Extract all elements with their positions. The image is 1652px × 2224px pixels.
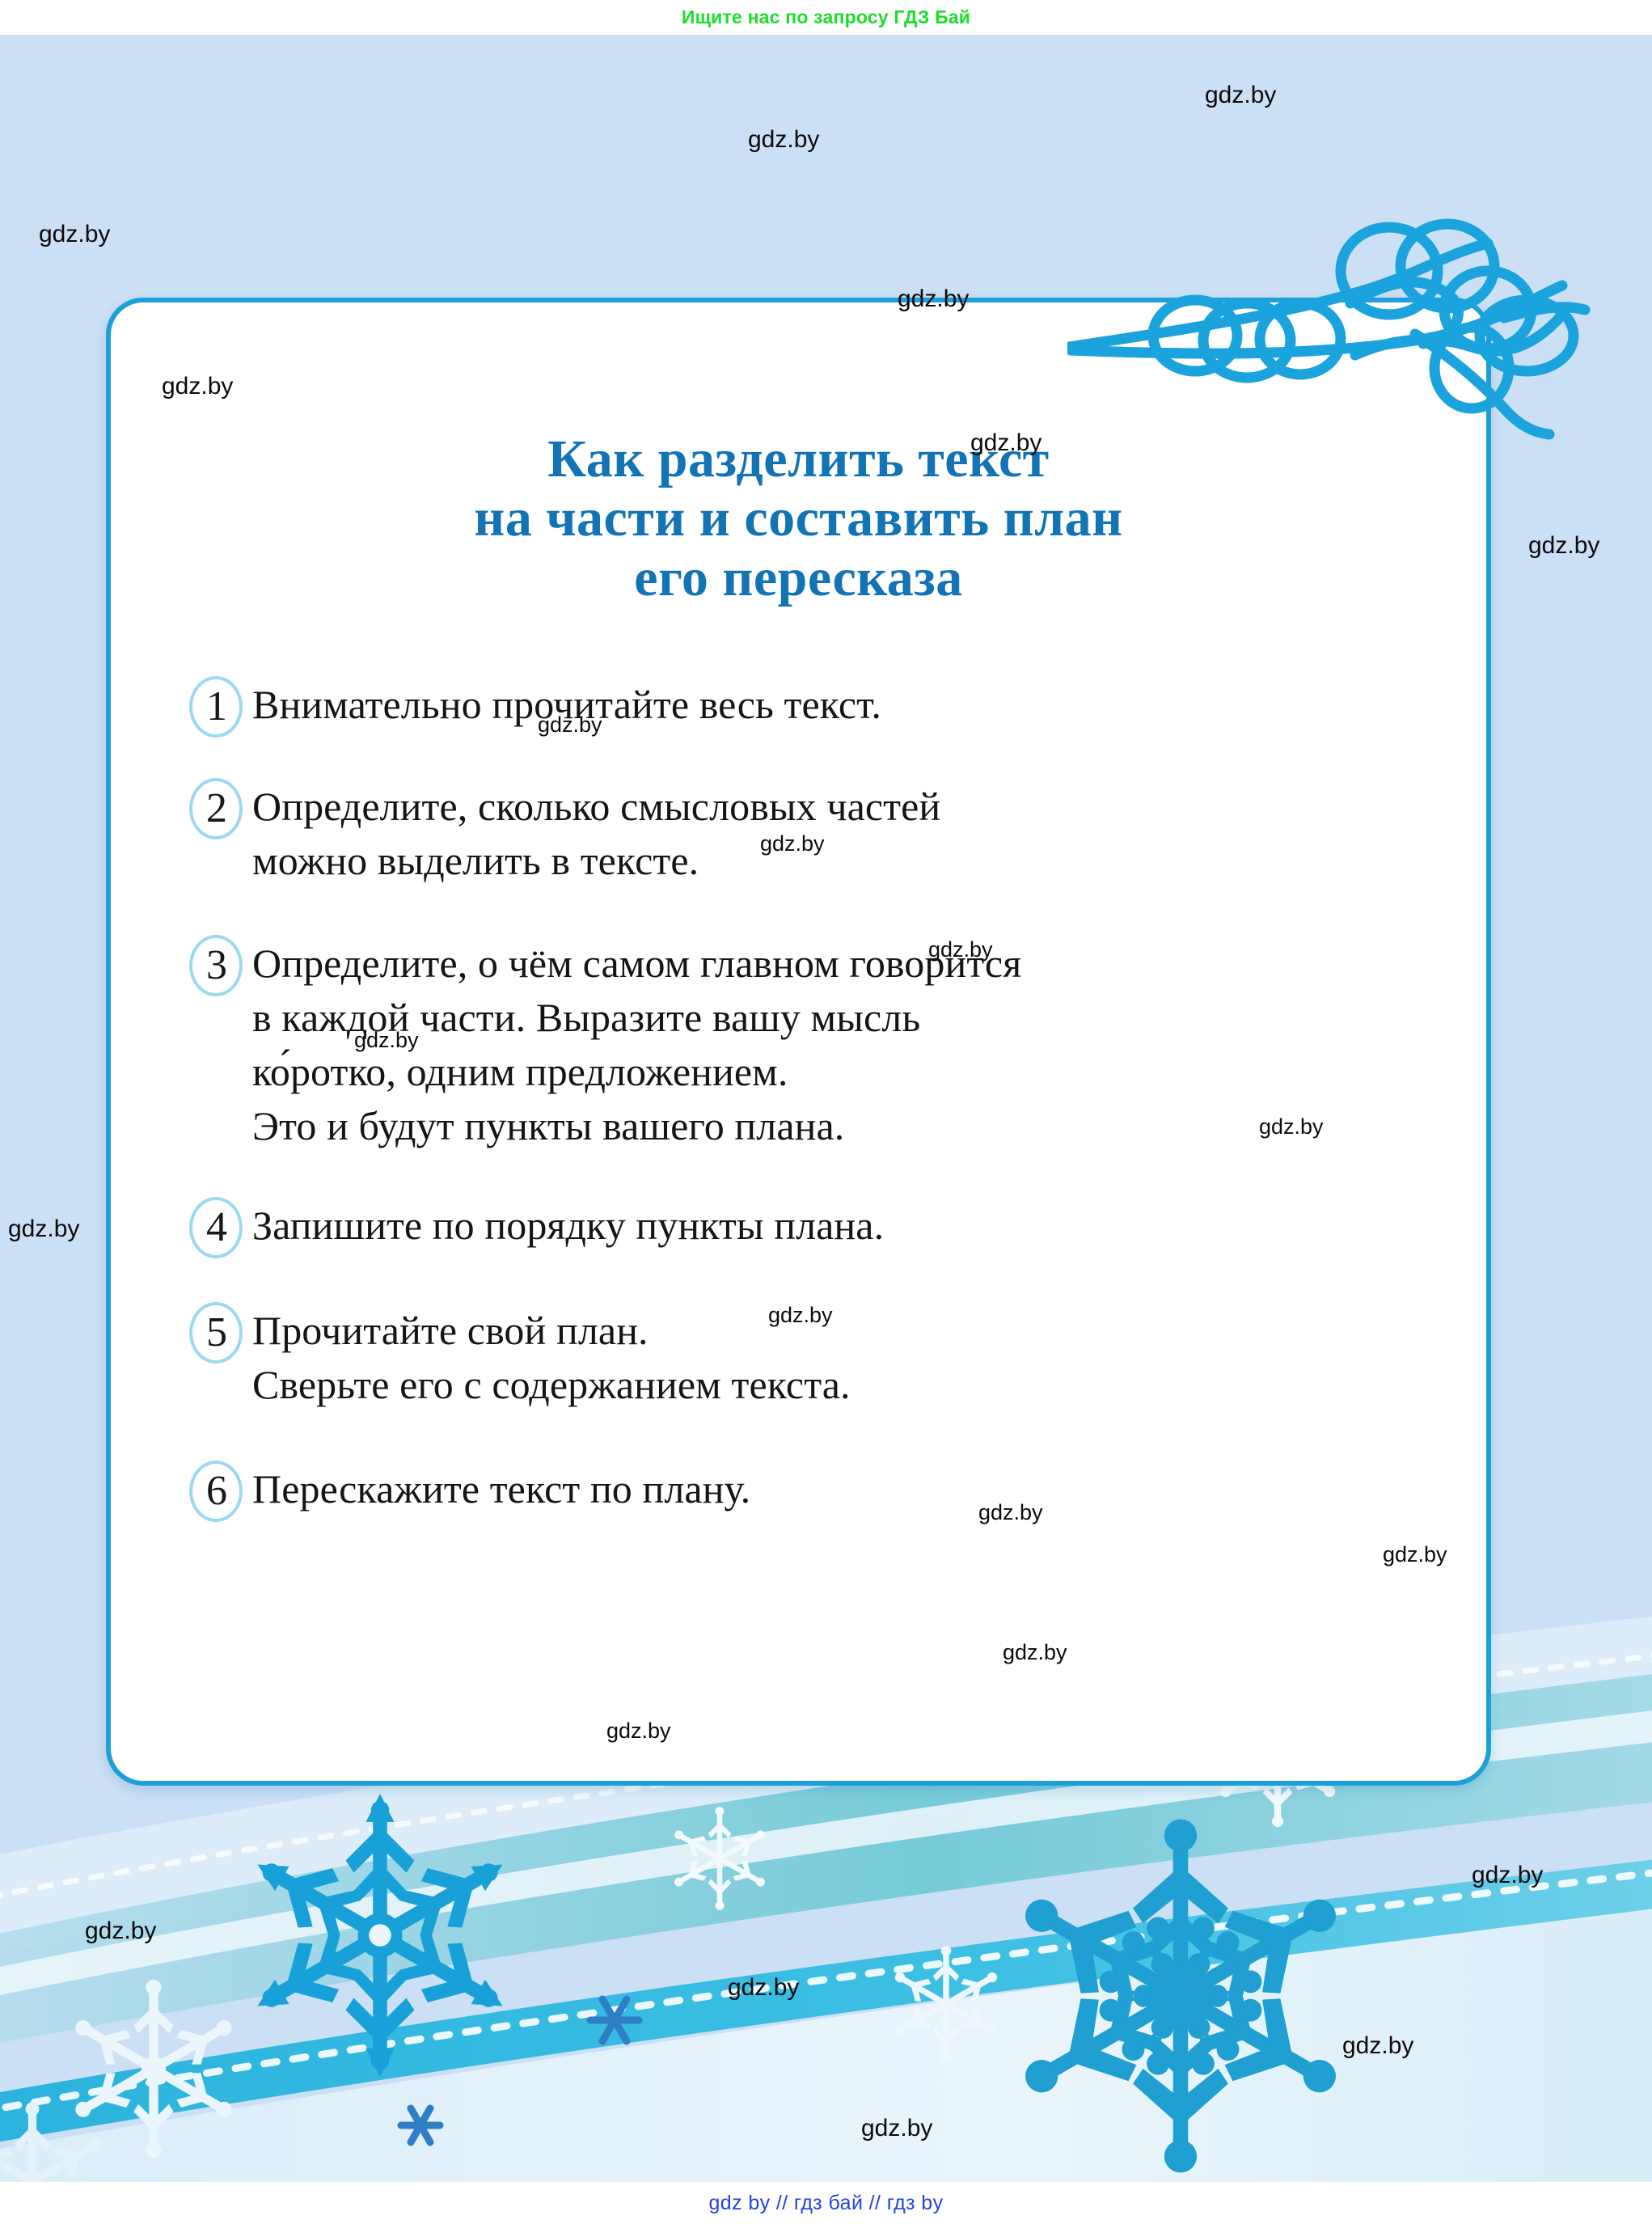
list-item: 5 Прочитайте свой план. Сверьте его с со… [188, 1300, 1465, 1412]
page-title-line-2: на части и составить план [111, 491, 1486, 545]
step-number-badge: 3 [188, 933, 246, 998]
watermark: gdz.by [861, 2115, 932, 2142]
lesson-card: Как разделить текст на части и составить… [106, 298, 1491, 1786]
step-number-label: 4 [188, 1195, 246, 1260]
page-footer: gdz by // гдз бай // гдз by [0, 2182, 1652, 2224]
top-promo-banner: Ищите нас по запросу ГДЗ Бай [0, 0, 1652, 35]
watermark: gdz.by [85, 1917, 156, 1945]
footer-links: gdz by // гдз бай // гдз by [708, 2192, 943, 2215]
watermark: gdz.by [1205, 82, 1276, 109]
step-text-line: ко́ротко, одним предложением. [252, 1045, 1465, 1099]
step-text: Перескажите текст по плану. [252, 1459, 1465, 1516]
textbook-page: Как разделить текст на части и составить… [0, 35, 1652, 2182]
page-title-line-3: его пересказа [111, 551, 1486, 605]
watermark: gdz.by [8, 1216, 79, 1243]
step-number-label: 5 [188, 1300, 246, 1365]
watermark: gdz.by [1472, 1862, 1543, 1889]
step-text-line: Внимательно прочитайте весь текст. [252, 678, 1465, 732]
watermark: gdz.by [728, 1974, 799, 2002]
list-item: 1 Внимательно прочитайте весь текст. [188, 674, 1465, 739]
steps-list: 1 Внимательно прочитайте весь текст. 2 О… [188, 674, 1465, 1524]
step-number-badge: 6 [188, 1459, 246, 1524]
step-text-line: в каждой части. Выразите вашу мысль [252, 991, 1465, 1045]
step-text-line: можно выделить в тексте. [252, 834, 1465, 888]
list-item: 2 Определите, сколько смысловых частей м… [188, 776, 1465, 888]
watermark: gdz.by [39, 221, 110, 248]
top-promo-banner-text: Ищите нас по запросу ГДЗ Бай [682, 6, 970, 28]
watermark: gdz.by [748, 126, 819, 154]
step-number-badge: 1 [188, 674, 246, 739]
step-text-line: Определите, сколько смысловых частей [252, 780, 1465, 834]
watermark: gdz.by [1528, 532, 1599, 560]
step-number-badge: 4 [188, 1195, 246, 1260]
step-number-badge: 5 [188, 1300, 246, 1365]
step-text-line: Сверьте его с содержанием текста. [252, 1358, 1465, 1412]
watermark: gdz.by [1342, 2032, 1413, 2060]
step-text-line: Это и будут пункты вашего плана. [252, 1099, 1465, 1153]
step-number-badge: 2 [188, 776, 246, 841]
list-item: 4 Запишите по порядку пункты плана. [188, 1195, 1465, 1260]
step-text: Определите, о чём самом главном говоритс… [252, 933, 1465, 1153]
page-title-line-1: Как разделить текст [111, 432, 1486, 486]
step-text-line: Прочитайте свой план. [252, 1304, 1465, 1358]
step-number-label: 1 [188, 674, 246, 739]
page-title: Как разделить текст на части и составить… [111, 432, 1486, 605]
list-item: 3 Определите, о чём самом главном говори… [188, 933, 1465, 1153]
step-number-label: 6 [188, 1459, 246, 1524]
step-number-label: 2 [188, 776, 246, 841]
step-number-label: 3 [188, 933, 246, 998]
step-text: Определите, сколько смысловых частей мож… [252, 776, 1465, 888]
step-text: Прочитайте свой план. Сверьте его с соде… [252, 1300, 1465, 1412]
step-text: Запишите по порядку пункты плана. [252, 1195, 1465, 1253]
step-text-line: Перескажите текст по плану. [252, 1462, 1465, 1516]
step-text-line: Запишите по порядку пункты плана. [252, 1199, 1465, 1253]
step-text: Внимательно прочитайте весь текст. [252, 674, 1465, 732]
list-item: 6 Перескажите текст по плану. [188, 1459, 1465, 1524]
step-text-line: Определите, о чём самом главном говоритс… [252, 937, 1465, 991]
